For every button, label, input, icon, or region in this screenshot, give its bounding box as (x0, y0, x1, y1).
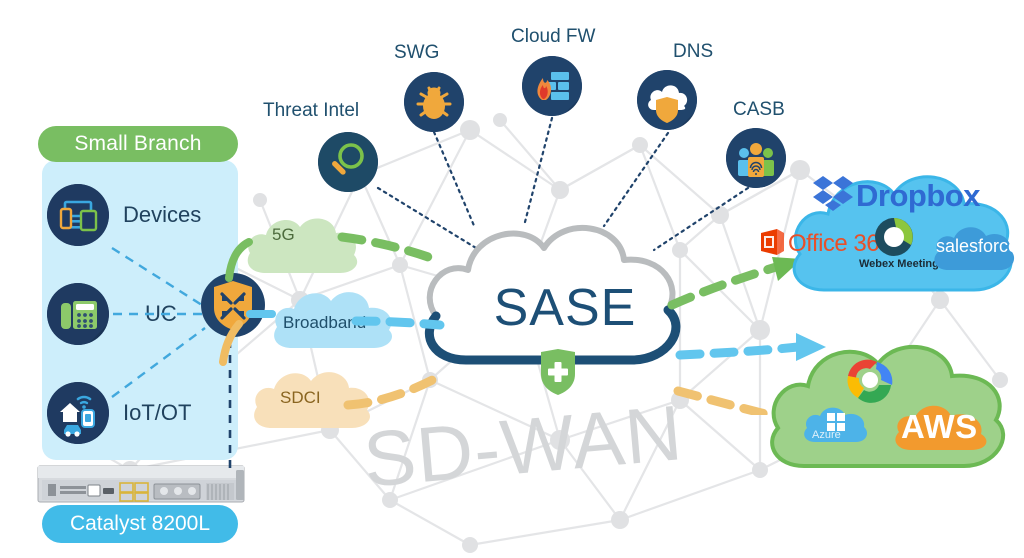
webex-logo (872, 216, 916, 258)
transport-paths-left (330, 215, 450, 435)
salesforce-label: salesforce (936, 236, 1018, 257)
azure-label: Azure (812, 429, 841, 441)
office365-logo (758, 227, 786, 257)
dropbox-logo (812, 173, 856, 215)
dropbox-label: Dropbox (856, 178, 980, 214)
diagram-canvas: SD-WAN Small Branch Devices (0, 0, 1024, 558)
sase-label: SASE (470, 278, 660, 338)
aws-label: AWS (901, 408, 978, 446)
azure-logo (797, 398, 875, 450)
sase-shield-badge (537, 348, 579, 396)
